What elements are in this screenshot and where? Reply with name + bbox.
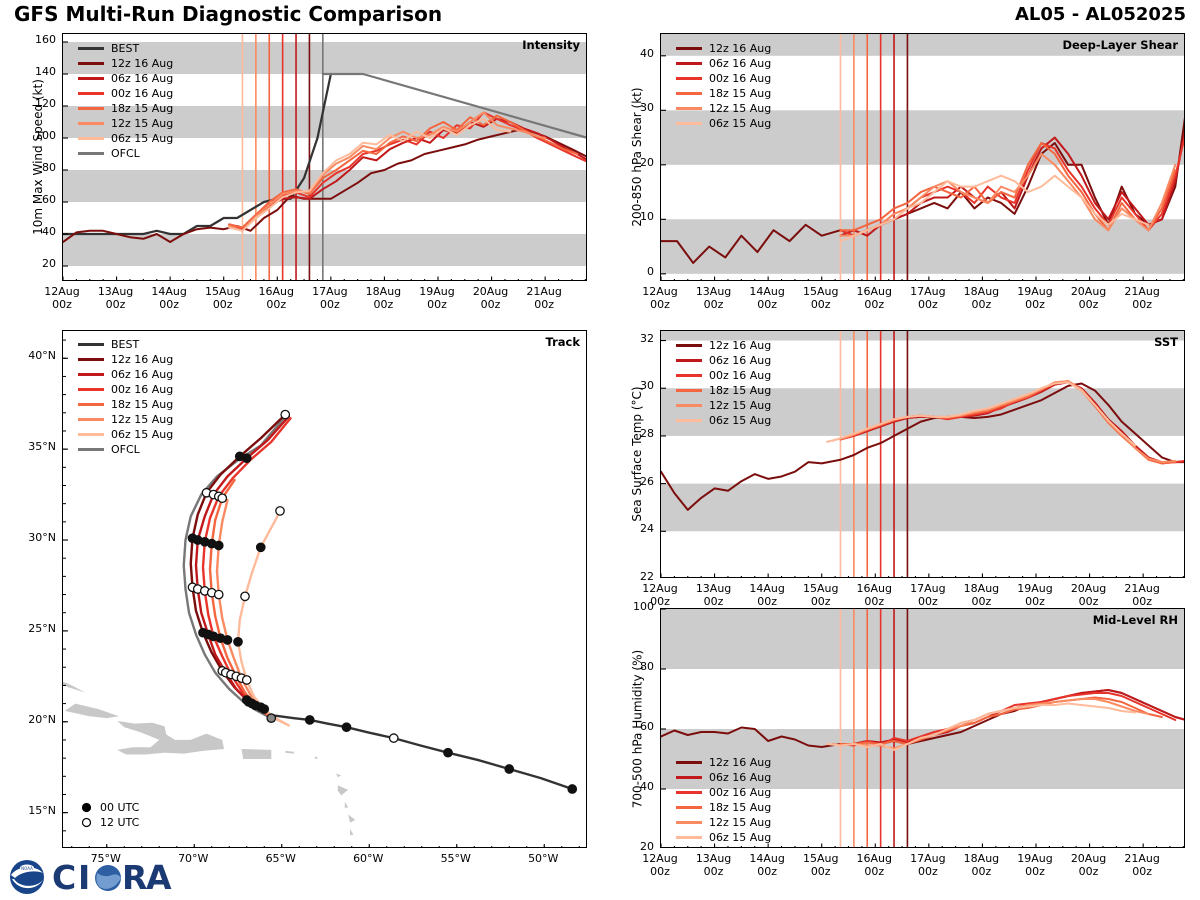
legend-swatch: [676, 122, 702, 125]
storm-id: AL05 - AL052025: [1015, 4, 1186, 25]
axis-tick-label: 19Aug00z: [1005, 852, 1065, 878]
axis-tick-label: 0: [614, 265, 654, 278]
legend-label: 00z 16 Aug: [709, 369, 771, 382]
axis-tick-label: 160: [16, 33, 56, 46]
axis-tick-label: 18Aug00z: [951, 852, 1011, 878]
legend-label: 12z 16 Aug: [709, 756, 771, 769]
axis-tick-label: 20Aug00z: [1059, 852, 1119, 878]
legend-item: 06z 16 Aug: [676, 770, 771, 785]
axis-tick-label: 15Aug00z: [193, 285, 253, 311]
legend-item: 06z 16 Aug: [78, 367, 173, 382]
legend-label: 00z 16 Aug: [111, 383, 173, 396]
legend-swatch: [676, 776, 702, 779]
legend-label: 12z 16 Aug: [709, 339, 771, 352]
legend-item: 12z 16 Aug: [78, 352, 173, 367]
sst-panel-title: SST: [1154, 335, 1178, 349]
legend-label: 18z 15 Aug: [709, 87, 771, 100]
legend-item: 18z 15 Aug: [78, 101, 173, 116]
legend-item: 12z 15 Aug: [78, 116, 173, 131]
legend-swatch: [78, 448, 104, 451]
legend-swatch: [676, 806, 702, 809]
legend-item: 06z 16 Aug: [78, 71, 173, 86]
legend-swatch: [676, 404, 702, 407]
axis-tick-label: 26: [614, 475, 654, 488]
legend-label: 12z 15 Aug: [111, 413, 173, 426]
legend-swatch: [676, 344, 702, 347]
legend-label: 12z 15 Aug: [709, 102, 771, 115]
axis-tick-label: 30: [614, 379, 654, 392]
axis-tick-label: 20Aug00z: [1059, 582, 1119, 608]
legend-item: 00z 16 Aug: [78, 382, 173, 397]
legend-swatch: [78, 403, 104, 406]
legend-item: 00z 16 Aug: [676, 368, 771, 383]
axis-tick-label: 12Aug00z: [32, 285, 92, 311]
filled-circle-icon: [80, 802, 93, 813]
legend-item: 12z 15 Aug: [676, 815, 771, 830]
legend-swatch: [78, 433, 104, 436]
axis-tick-label: 20°N: [10, 713, 56, 726]
legend-item: 12z 16 Aug: [676, 755, 771, 770]
legend-swatch: [676, 62, 702, 65]
svg-text:NOAA: NOAA: [21, 866, 33, 871]
axis-tick-label: 25°N: [10, 622, 56, 635]
legend-label: 06z 15 Aug: [709, 117, 771, 130]
axis-tick-label: 32: [614, 332, 654, 345]
axis-tick-label: 17Aug00z: [300, 285, 360, 311]
axis-tick-label: 17Aug00z: [898, 582, 958, 608]
legend-item: 12z 15 Aug: [676, 101, 771, 116]
axis-tick-label: 55°W: [426, 852, 486, 865]
axis-tick-label: 100: [16, 129, 56, 142]
axis-tick-label: 14Aug00z: [737, 582, 797, 608]
legend-label: 06z 16 Aug: [111, 368, 173, 381]
axis-tick-label: 17Aug00z: [898, 852, 958, 878]
legend-swatch: [676, 47, 702, 50]
axis-tick-label: 18Aug00z: [951, 285, 1011, 311]
axis-tick-label: 60: [614, 720, 654, 733]
axis-tick-label: 17Aug00z: [898, 285, 958, 311]
legend-item: 06z 15 Aug: [676, 830, 771, 845]
legend-label: BEST: [111, 338, 139, 351]
legend-item: 12z 16 Aug: [78, 56, 173, 71]
legend-label: 18z 15 Aug: [709, 801, 771, 814]
svg-text:I: I: [78, 858, 90, 897]
agency-logos: NOAA C I R A: [6, 858, 174, 898]
axis-tick-label: 50°W: [513, 852, 573, 865]
legend-item: 00z 16 Aug: [676, 785, 771, 800]
legend-swatch: [78, 373, 104, 376]
axis-tick-label: 15Aug00z: [791, 582, 851, 608]
svg-text:C: C: [52, 858, 76, 897]
legend-label: 06z 16 Aug: [111, 72, 173, 85]
axis-tick-label: 40: [16, 225, 56, 238]
axis-tick-label: 15Aug00z: [791, 852, 851, 878]
legend-label: 12z 15 Aug: [111, 117, 173, 130]
axis-tick-label: 40: [614, 47, 654, 60]
axis-tick-label: 16Aug00z: [844, 285, 904, 311]
legend-item: 00 UTC: [80, 800, 139, 815]
axis-tick-label: 12Aug00z: [630, 285, 690, 311]
legend-item: 06z 15 Aug: [78, 427, 173, 442]
axis-tick-label: 30°N: [10, 531, 56, 544]
legend-item: 12z 16 Aug: [676, 338, 771, 353]
axis-tick-label: 21Aug00z: [1112, 852, 1172, 878]
legend-item: 12 UTC: [80, 815, 139, 830]
legend-label: 00z 16 Aug: [111, 87, 173, 100]
legend-swatch: [78, 62, 104, 65]
axis-tick-label: 15Aug00z: [791, 285, 851, 311]
cira-logo-icon: C I R A: [52, 858, 174, 898]
legend-item: 18z 15 Aug: [78, 397, 173, 412]
legend-label: 18z 15 Aug: [709, 384, 771, 397]
legend-label: 06z 15 Aug: [709, 414, 771, 427]
legend-swatch: [78, 122, 104, 125]
rh-legend: 12z 16 Aug06z 16 Aug00z 16 Aug18z 15 Aug…: [676, 755, 771, 845]
axis-tick-label: 20: [16, 257, 56, 270]
legend-label: 06z 15 Aug: [111, 428, 173, 441]
svg-text:R: R: [122, 858, 147, 897]
legend-swatch: [676, 761, 702, 764]
legend-label: 12z 15 Aug: [709, 399, 771, 412]
legend-label: BEST: [111, 42, 139, 55]
legend-label: 12z 16 Aug: [709, 42, 771, 55]
legend-swatch: [676, 77, 702, 80]
axis-tick-label: 60: [16, 193, 56, 206]
axis-tick-label: 80: [16, 161, 56, 174]
track-marker-legend: 00 UTC12 UTC: [80, 800, 139, 830]
legend-swatch: [676, 836, 702, 839]
legend-item: 12z 16 Aug: [676, 41, 771, 56]
axis-tick-label: 19Aug00z: [1005, 582, 1065, 608]
axis-tick-label: 13Aug00z: [684, 582, 744, 608]
axis-tick-label: 19Aug00z: [1005, 285, 1065, 311]
legend-item: 06z 16 Aug: [676, 353, 771, 368]
legend-swatch: [676, 389, 702, 392]
legend-swatch: [78, 388, 104, 391]
legend-swatch: [78, 107, 104, 110]
legend-item: 00z 16 Aug: [78, 86, 173, 101]
svg-text:A: A: [146, 858, 172, 897]
open-circle-icon: [80, 817, 93, 828]
axis-tick-label: 14Aug00z: [737, 852, 797, 878]
axis-tick-label: 40: [614, 780, 654, 793]
axis-tick-label: 140: [16, 65, 56, 78]
axis-tick-label: 12Aug00z: [630, 852, 690, 878]
axis-tick-label: 40°N: [10, 349, 56, 362]
legend-item: 12z 15 Aug: [676, 398, 771, 413]
legend-swatch: [78, 358, 104, 361]
axis-tick-label: 80: [614, 660, 654, 673]
axis-tick-label: 65°W: [251, 852, 311, 865]
axis-tick-label: 19Aug00z: [407, 285, 467, 311]
legend-swatch: [676, 107, 702, 110]
axis-tick-label: 28: [614, 427, 654, 440]
axis-tick-label: 120: [16, 97, 56, 110]
legend-label: 00z 16 Aug: [709, 786, 771, 799]
axis-tick-label: 16Aug00z: [844, 852, 904, 878]
noaa-logo-icon: NOAA: [6, 858, 50, 898]
page-title: GFS Multi-Run Diagnostic Comparison: [14, 2, 442, 26]
shear-panel-title: Deep-Layer Shear: [1062, 38, 1178, 52]
axis-tick-label: 21Aug00z: [1112, 582, 1172, 608]
legend-label: 00z 16 Aug: [709, 72, 771, 85]
legend-swatch: [676, 791, 702, 794]
legend-item: 06z 15 Aug: [676, 116, 771, 131]
axis-tick-label: 13Aug00z: [684, 852, 744, 878]
axis-tick-label: 20: [614, 156, 654, 169]
rh-panel-title: Mid-Level RH: [1093, 613, 1178, 627]
legend-label: 12 UTC: [100, 816, 139, 829]
axis-tick-label: 21Aug00z: [1112, 285, 1172, 311]
axis-tick-label: 24: [614, 522, 654, 535]
legend-swatch: [78, 418, 104, 421]
axis-tick-label: 20Aug00z: [1059, 285, 1119, 311]
axis-tick-label: 60°W: [338, 852, 398, 865]
legend-item: BEST: [78, 41, 173, 56]
legend-label: OFCL: [111, 147, 140, 160]
legend-label: OFCL: [111, 443, 140, 456]
legend-item: 06z 16 Aug: [676, 56, 771, 71]
axis-tick-label: 20Aug00z: [461, 285, 521, 311]
legend-item: 06z 15 Aug: [676, 413, 771, 428]
axis-tick-label: 18Aug00z: [951, 582, 1011, 608]
legend-swatch: [676, 419, 702, 422]
legend-item: BEST: [78, 337, 173, 352]
axis-tick-label: 35°N: [10, 440, 56, 453]
axis-tick-label: 100: [614, 600, 654, 613]
axis-tick-label: 30: [614, 101, 654, 114]
legend-swatch: [78, 92, 104, 95]
legend-label: 06z 15 Aug: [111, 132, 173, 145]
legend-swatch: [676, 359, 702, 362]
legend-swatch: [676, 92, 702, 95]
legend-swatch: [78, 77, 104, 80]
axis-tick-label: 14Aug00z: [139, 285, 199, 311]
legend-item: OFCL: [78, 442, 173, 457]
sst-legend: 12z 16 Aug06z 16 Aug00z 16 Aug18z 15 Aug…: [676, 338, 771, 428]
legend-item: 06z 15 Aug: [78, 131, 173, 146]
legend-label: 18z 15 Aug: [111, 102, 173, 115]
axis-tick-label: 16Aug00z: [844, 582, 904, 608]
legend-swatch: [78, 47, 104, 50]
shear-legend: 12z 16 Aug06z 16 Aug00z 16 Aug18z 15 Aug…: [676, 41, 771, 131]
legend-item: OFCL: [78, 146, 173, 161]
legend-swatch: [78, 137, 104, 140]
intensity-panel-title: Intensity: [522, 38, 580, 52]
axis-tick-label: 14Aug00z: [737, 285, 797, 311]
legend-item: 18z 15 Aug: [676, 800, 771, 815]
legend-label: 06z 16 Aug: [709, 354, 771, 367]
legend-label: 00 UTC: [100, 801, 139, 814]
legend-swatch: [78, 343, 104, 346]
legend-item: 18z 15 Aug: [676, 383, 771, 398]
legend-label: 12z 15 Aug: [709, 816, 771, 829]
axis-tick-label: 15°N: [10, 804, 56, 817]
axis-tick-label: 13Aug00z: [86, 285, 146, 311]
legend-item: 12z 15 Aug: [78, 412, 173, 427]
axis-tick-label: 13Aug00z: [684, 285, 744, 311]
legend-item: 00z 16 Aug: [676, 71, 771, 86]
legend-swatch: [676, 821, 702, 824]
legend-label: 06z 15 Aug: [709, 831, 771, 844]
legend-label: 18z 15 Aug: [111, 398, 173, 411]
axis-tick-label: 21Aug00z: [514, 285, 574, 311]
legend-swatch: [676, 374, 702, 377]
track-legend: BEST12z 16 Aug06z 16 Aug00z 16 Aug18z 15…: [78, 337, 173, 457]
legend-item: 18z 15 Aug: [676, 86, 771, 101]
legend-swatch: [78, 152, 104, 155]
axis-tick-label: 18Aug00z: [353, 285, 413, 311]
legend-label: 06z 16 Aug: [709, 771, 771, 784]
legend-label: 06z 16 Aug: [709, 57, 771, 70]
intensity-legend: BEST12z 16 Aug06z 16 Aug00z 16 Aug18z 15…: [78, 41, 173, 161]
axis-tick-label: 16Aug00z: [246, 285, 306, 311]
legend-label: 12z 16 Aug: [111, 57, 173, 70]
track-panel-title: Track: [546, 335, 580, 349]
legend-label: 12z 16 Aug: [111, 353, 173, 366]
axis-tick-label: 10: [614, 210, 654, 223]
